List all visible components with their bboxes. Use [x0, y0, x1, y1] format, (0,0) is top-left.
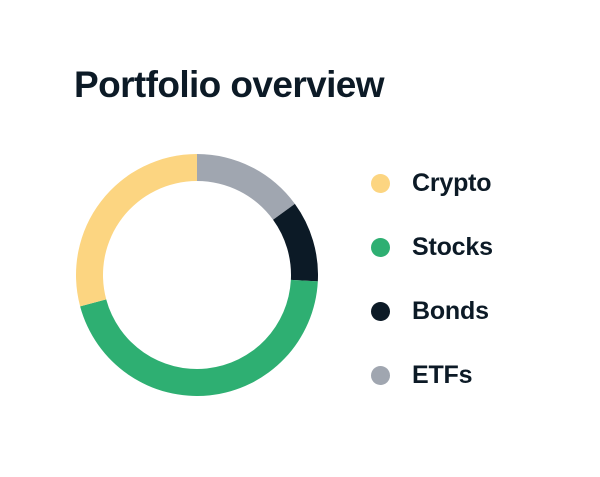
legend-item-label: Crypto — [412, 170, 491, 196]
legend-item-crypto[interactable]: Crypto — [371, 170, 551, 196]
circle-swatch-icon — [371, 366, 390, 385]
donut-slice-bonds[interactable] — [273, 204, 318, 281]
circle-swatch-icon — [371, 174, 390, 193]
legend-item-label: Stocks — [412, 234, 493, 260]
legend-item-label: Bonds — [412, 298, 489, 324]
legend-item-stocks[interactable]: Stocks — [371, 234, 551, 260]
page-title: Portfolio overview — [74, 62, 384, 108]
chart-legend: CryptoStocksBondsETFs — [371, 170, 551, 388]
circle-swatch-icon — [371, 238, 390, 257]
portfolio-overview-card: Portfolio overview CryptoStocksBondsETFs — [0, 0, 600, 477]
legend-item-label: ETFs — [412, 362, 472, 388]
legend-item-etfs[interactable]: ETFs — [371, 362, 551, 388]
donut-chart — [76, 154, 318, 396]
donut-slice-crypto[interactable] — [76, 154, 197, 306]
donut-slice-etfs[interactable] — [197, 154, 295, 220]
legend-item-bonds[interactable]: Bonds — [371, 298, 551, 324]
donut-chart-svg — [76, 154, 318, 396]
donut-slice-stocks[interactable] — [80, 280, 318, 396]
circle-swatch-icon — [371, 302, 390, 321]
